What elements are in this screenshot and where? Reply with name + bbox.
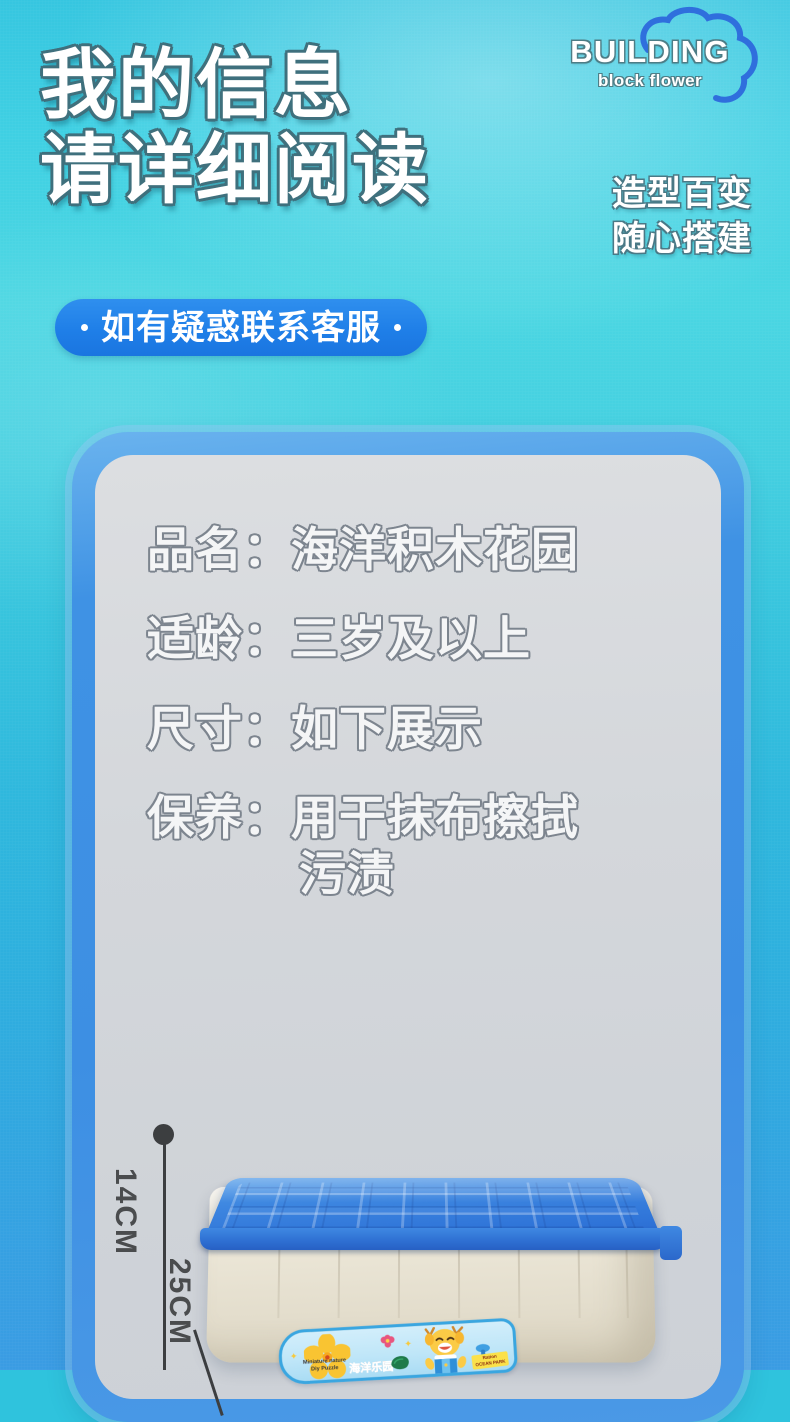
dimension-height-label: 14CM <box>108 1168 142 1256</box>
headline-line-1: 我的信息 <box>40 42 430 127</box>
bullet-dot-icon <box>394 324 401 331</box>
page-title: 我的信息 请详细阅读 <box>40 42 430 212</box>
brand-name: BUILDING <box>560 36 740 67</box>
brand-logo: BUILDING block flower <box>560 6 770 106</box>
dimension-marker-top <box>153 1124 174 1145</box>
spec-list: 品名：海洋积木花园 适龄：三岁及以上 尺寸：如下展示 保养：用干抹布擦拭 污渍 <box>147 523 691 936</box>
sticker-chinese-text: 海洋乐园 <box>349 1358 394 1377</box>
slogan-line-1: 造型百变 <box>612 172 752 217</box>
spec-size: 尺寸：如下展示 <box>147 702 691 757</box>
lid-rim <box>200 1228 666 1250</box>
customer-service-badge[interactable]: 如有疑惑联系客服 <box>55 299 427 356</box>
spec-care-wrap: 污渍 <box>299 847 691 902</box>
sticker-en-top: Miniature nature <box>303 1357 346 1366</box>
sparkle-icon: ✦ <box>290 1351 298 1363</box>
spec-row-size: 尺寸：如下展示 <box>147 702 691 757</box>
spec-row-care: 保养：用干抹布擦拭 污渍 <box>147 791 691 902</box>
spec-care: 保养：用干抹布擦拭 <box>147 791 691 846</box>
green-leaf-icon <box>389 1355 412 1371</box>
badge-bottom-text: OCEAN PARK <box>475 1359 506 1368</box>
slogan-line-2: 随心搭建 <box>612 217 752 262</box>
badge-label: 如有疑惑联系客服 <box>101 311 381 345</box>
sparkle-icon: ✦ <box>404 1338 412 1350</box>
product-storage-box: Miniature nature Diy Puzzle 海洋乐园 ✦ ✦ <box>196 1128 676 1370</box>
sticker-en-bottom: Diy Puzzle <box>311 1365 339 1373</box>
cartoon-deer-icon <box>420 1325 471 1378</box>
bullet-dot-icon <box>81 324 88 331</box>
spec-row-name: 品名：海洋积木花园 <box>147 523 691 578</box>
brand-tagline: block flower <box>560 72 740 89</box>
lid-clip <box>660 1226 682 1260</box>
slogan: 造型百变 随心搭建 <box>612 172 752 262</box>
headline-line-2: 请详细阅读 <box>40 127 430 212</box>
spec-product-name: 品名：海洋积木花园 <box>147 523 691 578</box>
sticker-ocean-badge: Ration OCEAN PARK <box>471 1351 509 1369</box>
lid-sheen <box>219 1178 647 1202</box>
pink-coral-icon <box>380 1334 396 1348</box>
dimension-length-label: 25CM <box>162 1258 196 1346</box>
spec-row-age: 适龄：三岁及以上 <box>147 612 691 667</box>
spec-age-range: 适龄：三岁及以上 <box>147 612 691 667</box>
